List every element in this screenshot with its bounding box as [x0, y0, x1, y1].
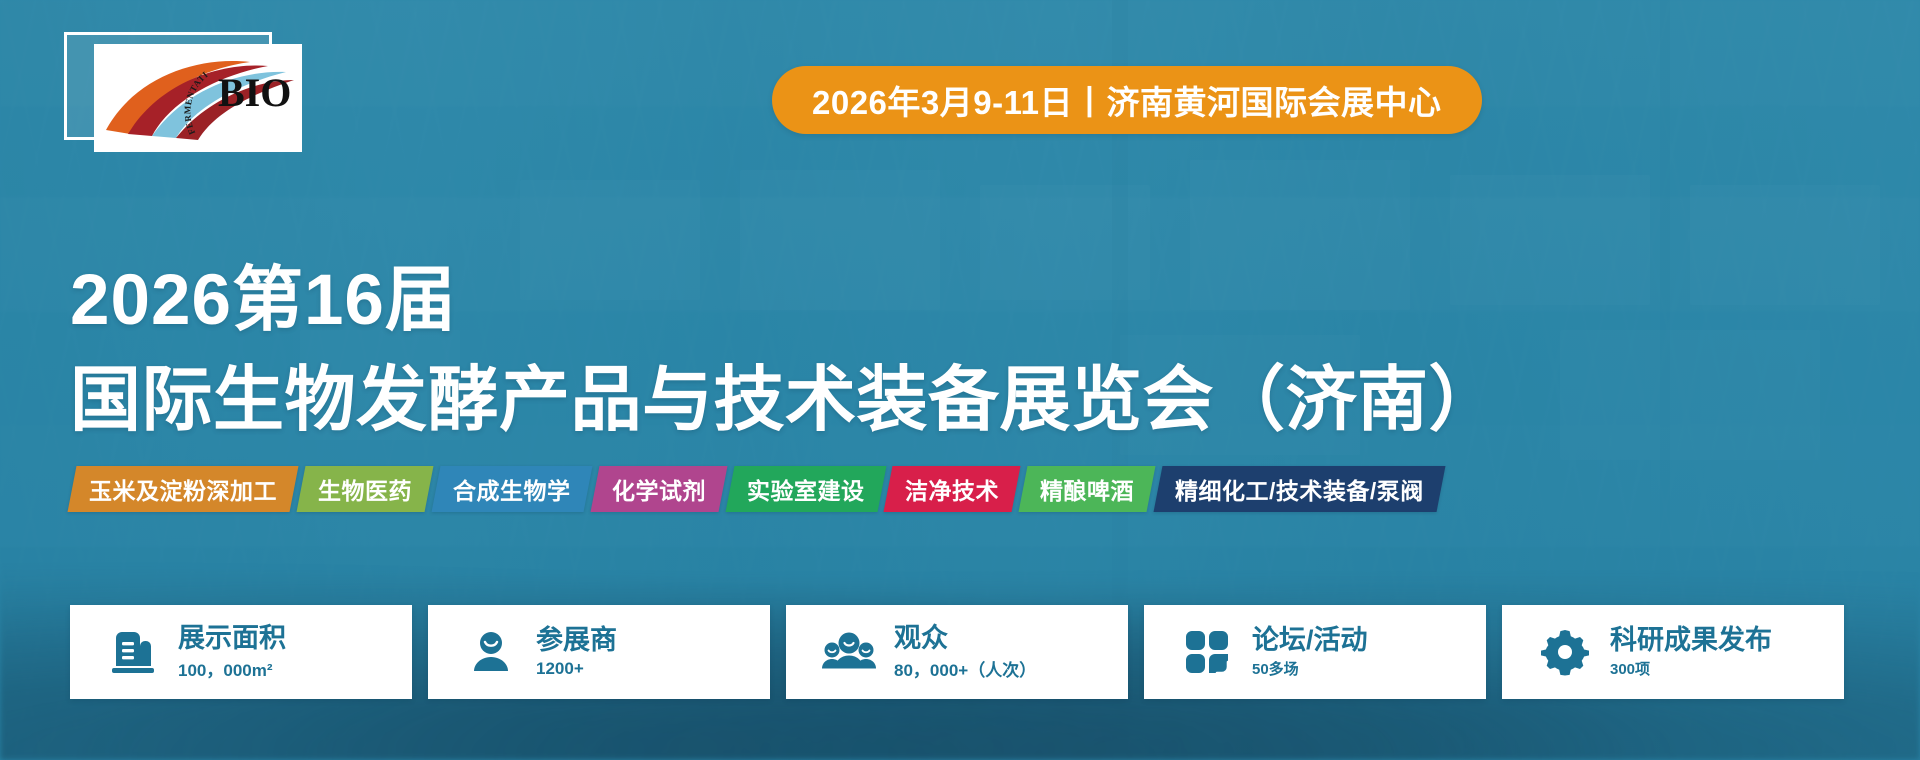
- logo-card: FERMENTATION BIO: [94, 44, 302, 152]
- topic-tag[interactable]: 生物医药: [297, 466, 434, 512]
- stat-title: 展示面积: [178, 623, 286, 653]
- stat-title: 参展商: [536, 625, 617, 655]
- stat-card-list: 展示面积 100，000m² 参展商 1200+: [70, 605, 1844, 699]
- people-icon: [820, 630, 878, 674]
- topic-tag-label: 精酿啤酒: [1040, 472, 1134, 506]
- topic-tag-label: 实验室建设: [747, 472, 865, 506]
- exhibition-banner: FERMENTATION BIO 2026年3月9-11日丨济南黄河国际会展中心…: [0, 0, 1920, 760]
- topic-tag[interactable]: 精细化工/技术装备/泵阀: [1154, 466, 1446, 512]
- stat-value: 1200+: [536, 659, 617, 679]
- topic-tag[interactable]: 精酿啤酒: [1019, 466, 1156, 512]
- topic-tag[interactable]: 洁净技术: [884, 466, 1021, 512]
- stat-value: 100，000m²: [178, 656, 286, 681]
- title-line-2: 国际生物发酵产品与技术装备展览会（济南）: [70, 343, 1500, 445]
- stat-value: 50多场: [1252, 658, 1368, 679]
- stat-title: 论坛/活动: [1252, 625, 1368, 655]
- stat-card-exhibition-area[interactable]: 展示面积 100，000m²: [70, 605, 412, 699]
- stat-value: 300项: [1610, 658, 1772, 679]
- topic-tag[interactable]: 化学试剂: [590, 466, 727, 512]
- topic-tag-label: 玉米及淀粉深加工: [89, 472, 277, 506]
- stat-title: 观众: [894, 623, 1036, 653]
- topic-tag-list: 玉米及淀粉深加工 生物医药 合成生物学 化学试剂 实验室建设 洁净技术 精酿啤酒…: [72, 466, 1441, 512]
- stat-card-forums[interactable]: 论坛/活动 50多场: [1144, 605, 1486, 699]
- person-icon: [462, 628, 520, 676]
- gear-icon: [1536, 628, 1594, 676]
- topic-tag[interactable]: 玉米及淀粉深加工: [68, 466, 299, 512]
- stat-card-exhibitors[interactable]: 参展商 1200+: [428, 605, 770, 699]
- building-icon: [104, 628, 162, 676]
- topic-tag-label: 洁净技术: [905, 472, 999, 506]
- date-venue-pill: 2026年3月9-11日丨济南黄河国际会展中心: [772, 66, 1482, 134]
- grid-apps-icon: [1178, 629, 1236, 675]
- svg-text:BIO: BIO: [218, 70, 291, 115]
- date-venue-text: 2026年3月9-11日丨济南黄河国际会展中心: [812, 76, 1442, 124]
- title-line-1: 2026第16届: [70, 243, 457, 345]
- stat-title: 科研成果发布: [1610, 625, 1772, 655]
- stat-card-research-results[interactable]: 科研成果发布 300项: [1502, 605, 1844, 699]
- topic-tag-label: 化学试剂: [612, 472, 706, 506]
- topic-tag-label: 生物医药: [318, 472, 412, 506]
- bio-fermentation-logo-mark: FERMENTATION BIO: [100, 50, 296, 146]
- stat-value: 80，000+（人次）: [894, 656, 1036, 681]
- topic-tag[interactable]: 合成生物学: [432, 466, 592, 512]
- topic-tag-label: 精细化工/技术装备/泵阀: [1175, 472, 1424, 506]
- topic-tag-label: 合成生物学: [453, 472, 571, 506]
- stat-card-visitors[interactable]: 观众 80，000+（人次）: [786, 605, 1128, 699]
- topic-tag[interactable]: 实验室建设: [725, 466, 885, 512]
